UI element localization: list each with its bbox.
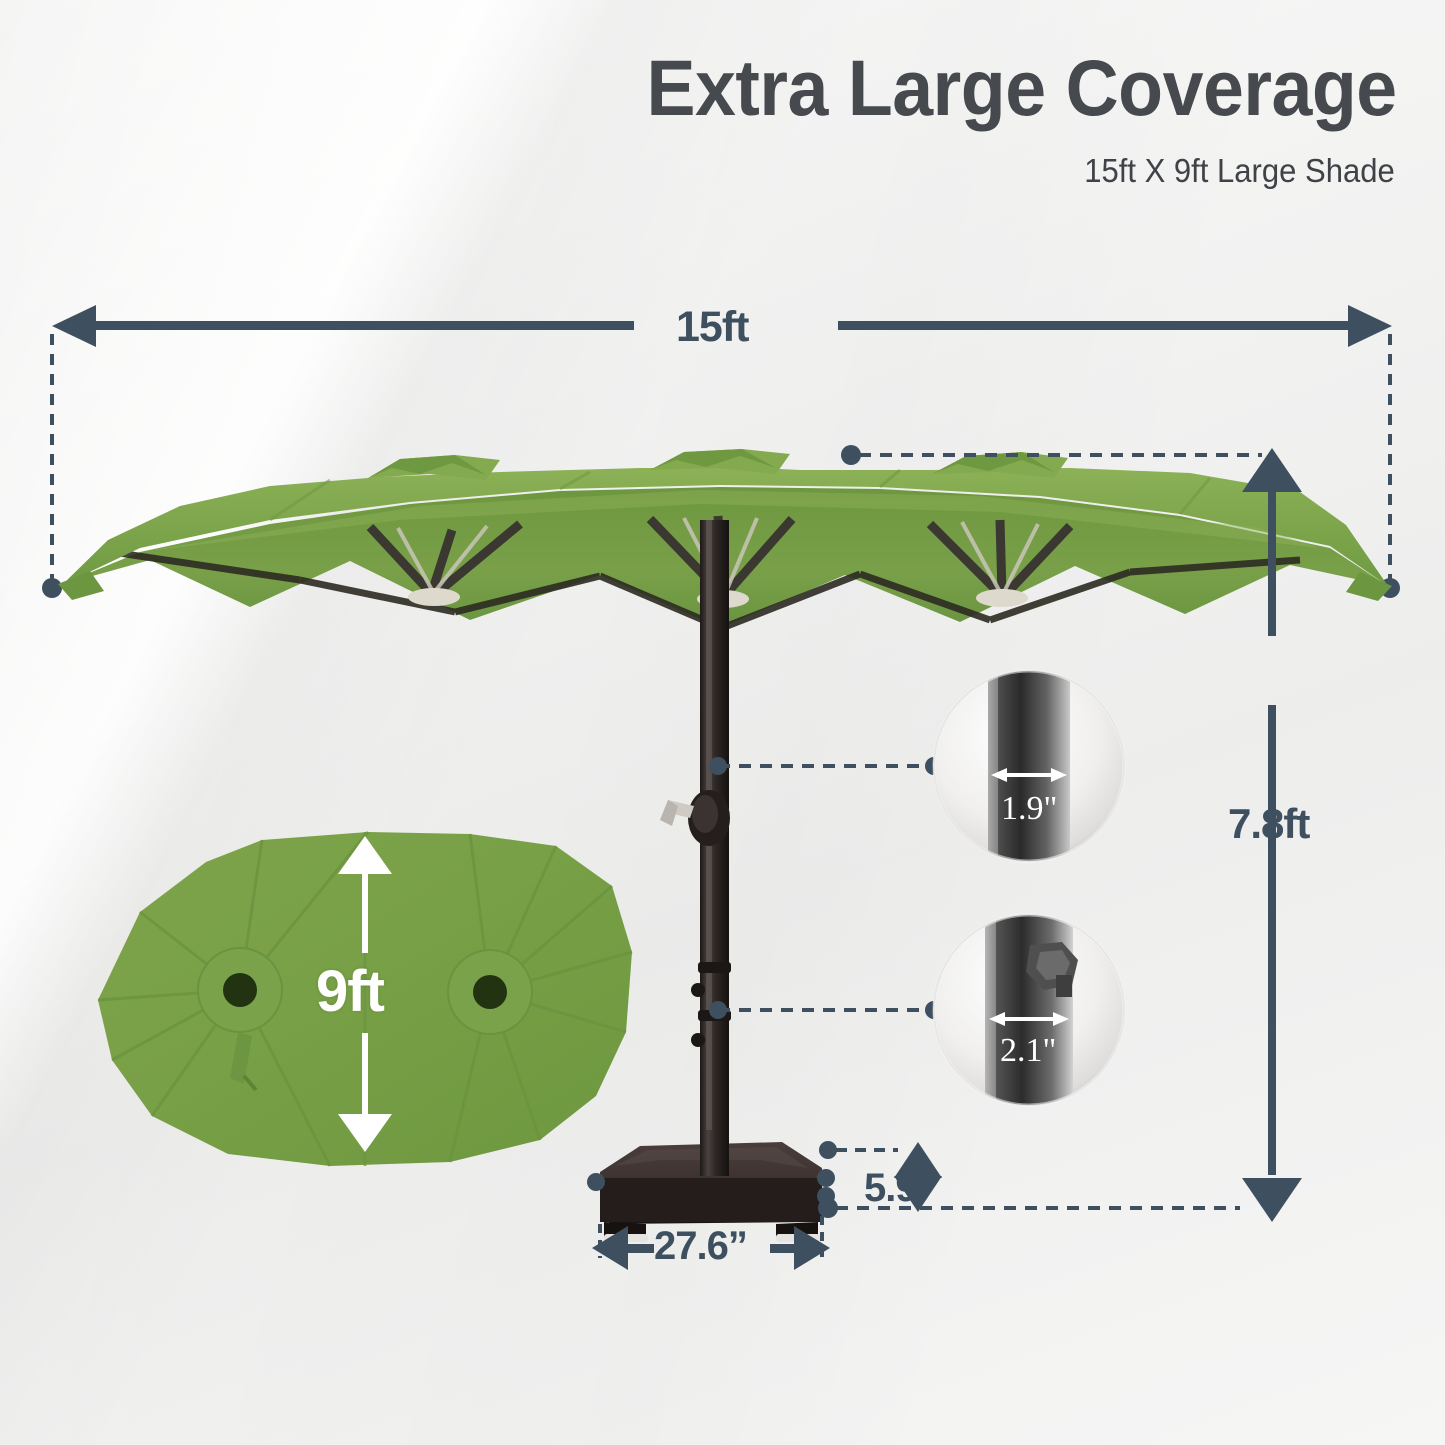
dimension-label-5-9in: 5.9” (864, 1166, 936, 1211)
crank-handle (660, 790, 730, 846)
callout-upper-pole (709, 671, 1124, 861)
callout-label-2-1in: 2.1" (1000, 1032, 1056, 1070)
callout-lower-pole (709, 915, 1124, 1105)
center-pole (700, 520, 729, 1180)
callout-label-1-9in: 1.9" (1001, 790, 1057, 828)
dimension-label-15ft: 15ft (676, 303, 748, 352)
dimension-label-27-6in: 27.6” (654, 1224, 747, 1269)
dimension-label-7-8ft: 7.8ft (1228, 800, 1309, 848)
dimension-label-9ft: 9ft (316, 958, 384, 1025)
infographic-canvas: Extra Large Coverage 15ft X 9ft Large Sh… (0, 0, 1445, 1445)
